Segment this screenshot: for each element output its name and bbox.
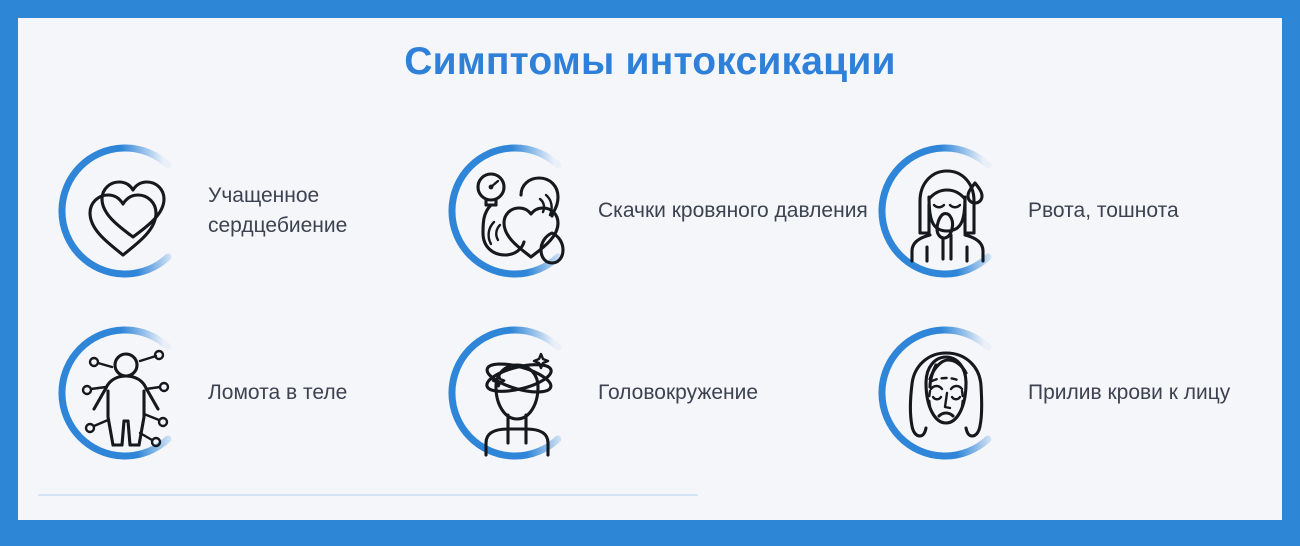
symptom-item-facial-flushing: Прилив крови к лицу	[870, 302, 1250, 484]
symptom-label: Скачки кровяного давления	[598, 196, 868, 226]
symptom-badge	[440, 317, 592, 469]
double-heart-icon	[50, 135, 202, 287]
poster-body: Симптомы интоксикации	[18, 18, 1282, 520]
symptom-item-dizziness: Головокружение	[440, 302, 870, 484]
poster-frame: Симптомы интоксикации	[0, 0, 1300, 546]
symptom-label: Рвота, тошнота	[1028, 196, 1179, 226]
flushed-face-icon	[870, 317, 1022, 469]
decorative-hairline	[38, 494, 698, 496]
symptom-item-nausea: Рвота, тошнота	[870, 120, 1250, 302]
nausea-person-icon	[870, 135, 1022, 287]
body-ache-figure-icon	[50, 317, 202, 469]
symptom-label: Головокружение	[598, 378, 758, 408]
symptom-badge	[870, 135, 1022, 287]
symptom-badge	[870, 317, 1022, 469]
symptom-badge	[50, 317, 202, 469]
symptom-item-heartbeat: Учащенное сердцебиение	[50, 120, 440, 302]
symptom-badge	[440, 135, 592, 287]
blood-pressure-monitor-icon	[440, 135, 592, 287]
page-title: Симптомы интоксикации	[18, 40, 1282, 84]
dizzy-head-icon	[440, 317, 592, 469]
symptom-label: Прилив крови к лицу	[1028, 378, 1230, 408]
symptom-item-blood-pressure: Скачки кровяного давления	[440, 120, 870, 302]
symptom-item-body-ache: Ломота в теле	[50, 302, 440, 484]
symptom-label: Ломота в теле	[208, 378, 347, 408]
symptom-label: Учащенное сердцебиение	[208, 181, 440, 241]
symptom-badge	[50, 135, 202, 287]
symptoms-grid: Учащенное сердцебиение	[50, 120, 1250, 484]
